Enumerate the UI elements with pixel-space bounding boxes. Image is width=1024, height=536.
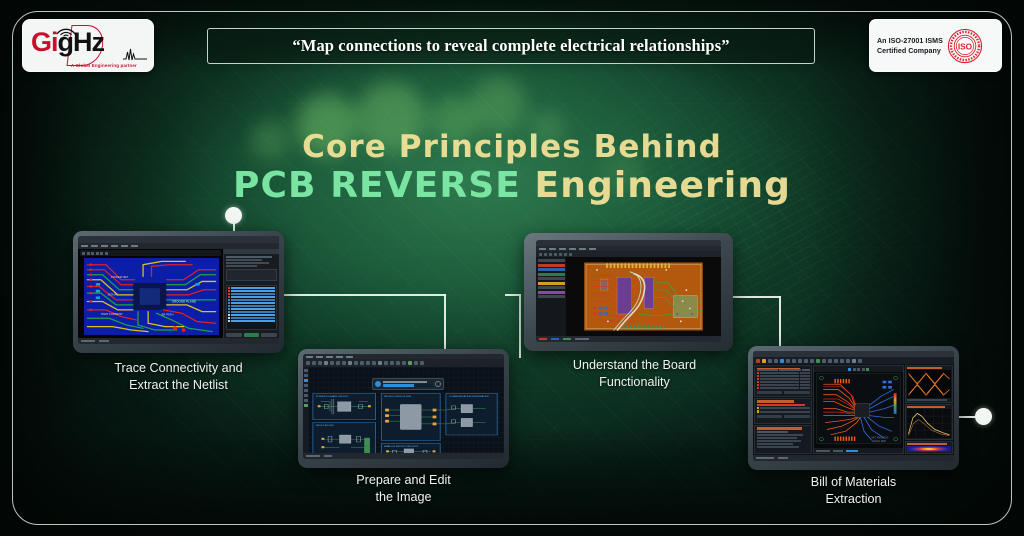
- title-line-1: Core Principles Behind: [0, 132, 1024, 164]
- app-window-schematic-capture-editor[interactable]: POWER DOMAIN CIRCUIT REGULATORS MICROCON…: [303, 354, 504, 459]
- eye-diagram-panel[interactable]: [905, 365, 953, 403]
- thermal-map-panel[interactable]: [905, 441, 953, 454]
- svg-text:POWER NET: POWER NET: [111, 275, 129, 279]
- page-title: Core Principles Behind PCB REVERSE Engin…: [0, 132, 1024, 204]
- iso-badge-line1: An ISO-27001 ISMS: [877, 36, 943, 46]
- app-statusbar: [78, 338, 279, 344]
- app-statusbar: [536, 336, 721, 342]
- pcb-traces: POWER NET SIGNAL HIGH CURRENT GROUND PLA…: [84, 258, 219, 335]
- screenshot-card-trace-connectivity[interactable]: POWER NET SIGNAL HIGH CURRENT GROUND PLA…: [73, 231, 284, 353]
- netlist-log: [224, 254, 279, 283]
- impedance-plot-panel[interactable]: [905, 404, 953, 439]
- app-window-pcb-board-viewer[interactable]: [536, 240, 721, 342]
- connector-seg-3h: [733, 296, 781, 298]
- iso-badge-text: An ISO-27001 ISMS Certified Company: [877, 36, 943, 56]
- bom-table-components[interactable]: [754, 365, 812, 397]
- bom-summary-panel[interactable]: [754, 425, 812, 454]
- bom-warnings-panel[interactable]: [754, 398, 812, 424]
- schematic-canvas[interactable]: POWER DOMAIN CIRCUIT REGULATORS MICROCON…: [303, 367, 504, 453]
- pcb-canvas[interactable]: POWER NET SIGNAL HIGH CURRENT GROUND PLA…: [78, 249, 223, 338]
- svg-text:MICROCONTROLLER: MICROCONTROLLER: [384, 396, 411, 398]
- svg-text:NET ANALYSIS: NET ANALYSIS: [871, 436, 888, 439]
- connector-seg-1v: [444, 294, 446, 350]
- infographic-canvas: GigHz A Global Engineering partner “Map …: [0, 0, 1024, 536]
- screenshot-card-board-functionality[interactable]: [524, 233, 733, 351]
- svg-text:REGULATORS: REGULATORS: [316, 424, 334, 427]
- app-window-pcb-layout-editor[interactable]: POWER NET SIGNAL HIGH CURRENT GROUND PLA…: [78, 236, 279, 344]
- progress-spinner-icon: [375, 381, 381, 387]
- logo-g: g: [58, 27, 74, 57]
- search-icon[interactable]: [435, 381, 441, 387]
- canvas-toolbar[interactable]: [80, 250, 221, 256]
- thermal-heatmap: [907, 446, 951, 452]
- svg-text:ISO: ISO: [958, 42, 973, 51]
- step-label-board-functionality: Understand the Board Functionality: [529, 357, 740, 390]
- pcb-board-render: [566, 257, 721, 336]
- step-label-trace-connectivity: Trace Connectivity and Extract the Netli…: [73, 360, 284, 393]
- svg-text:SIGNAL: SIGNAL: [108, 293, 119, 297]
- title-line-2: PCB REVERSE Engineering: [0, 168, 1024, 205]
- eye-diagram-plot: [907, 370, 951, 398]
- svg-text:GROUND PLANE: GROUND PLANE: [172, 299, 196, 303]
- impedance-plot: [907, 409, 951, 437]
- analysis-panels[interactable]: [905, 365, 953, 454]
- layer-top-copper[interactable]: [538, 264, 565, 267]
- company-logo: GigHz A Global Engineering partner: [22, 19, 154, 72]
- connector-node-top: [225, 207, 242, 224]
- connector-seg-2h: [505, 294, 521, 296]
- logo-wordmark: GigHz: [31, 27, 104, 57]
- screenshot-card-bom-extraction[interactable]: NET ANALYSIS SIGNAL MAP: [748, 346, 959, 470]
- pcb-analysis-render: NET ANALYSIS SIGNAL MAP: [814, 372, 903, 447]
- svg-text:COMMUNICATION INTERFACES: COMMUNICATION INTERFACES: [449, 395, 490, 398]
- connector-seg-2v: [519, 294, 521, 358]
- schematic-tool-rail[interactable]: [303, 367, 309, 453]
- connector-seg-1h: [283, 294, 446, 296]
- svg-text:RF PATH: RF PATH: [162, 313, 174, 317]
- app-toolbar[interactable]: [303, 359, 504, 367]
- logo-tagline: A Global Engineering partner: [71, 63, 137, 68]
- app-statusbar: [753, 455, 954, 461]
- app-body: [536, 257, 721, 336]
- step-label-bom-extraction: Bill of Materials Extraction: [748, 474, 959, 507]
- logo-gi: Gi: [31, 27, 58, 57]
- app-body: NET ANALYSIS SIGNAL MAP: [753, 364, 954, 455]
- bom-panels[interactable]: [754, 365, 812, 454]
- connector-seg-3v: [779, 296, 781, 348]
- schematic-blocks: POWER DOMAIN CIRCUIT REGULATORS MICROCON…: [311, 392, 501, 453]
- logo-hz: Hz: [73, 27, 104, 57]
- title-line-2-rest: Engineering: [521, 165, 791, 206]
- step-label-prepare-image: Prepare and Edit the Image: [298, 472, 509, 505]
- board-view-statusbar: [814, 448, 903, 453]
- svg-text:ANALOG FRONT CIRCUITS: ANALOG FRONT CIRCUITS: [384, 445, 419, 448]
- progress-dialog[interactable]: [372, 378, 444, 390]
- headline-quote-text: “Map connections to reveal complete elec…: [292, 36, 729, 56]
- svg-text:HIGH CURRENT: HIGH CURRENT: [101, 312, 123, 316]
- card-bezel: POWER NET SIGNAL HIGH CURRENT GROUND PLA…: [73, 231, 284, 353]
- connector-node-right: [975, 408, 992, 425]
- board-canvas[interactable]: [566, 257, 721, 336]
- app-titlebar: [78, 236, 279, 243]
- svg-text:POWER DOMAIN CIRCUIT: POWER DOMAIN CIRCUIT: [316, 395, 349, 398]
- app-window-bom-analysis-suite[interactable]: NET ANALYSIS SIGNAL MAP: [753, 351, 954, 461]
- card-bezel-tablet: [524, 233, 733, 351]
- iso-badge-line2: Certified Company: [877, 46, 943, 56]
- app-toolbar[interactable]: [753, 357, 954, 364]
- board-layout-view[interactable]: NET ANALYSIS SIGNAL MAP: [813, 365, 904, 454]
- layer-solder-mask[interactable]: [538, 282, 565, 285]
- screenshot-card-prepare-image[interactable]: POWER DOMAIN CIRCUIT REGULATORS MICROCON…: [298, 349, 509, 468]
- title-highlight: PCB REVERSE: [233, 165, 521, 206]
- netlist-table[interactable]: [226, 285, 277, 330]
- headline-quote-banner: “Map connections to reveal complete elec…: [207, 28, 815, 64]
- layer-panel[interactable]: [536, 257, 566, 336]
- waveform-icon: [123, 47, 147, 61]
- layer-drill[interactable]: [538, 291, 565, 294]
- card-bezel: POWER DOMAIN CIRCUIT REGULATORS MICROCON…: [298, 349, 509, 468]
- layer-silkscreen[interactable]: [538, 273, 565, 276]
- iso-certification-badge: An ISO-27001 ISMS Certified Company ISO: [869, 19, 1002, 72]
- card-bezel: NET ANALYSIS SIGNAL MAP: [748, 346, 959, 470]
- svg-text:SIGNAL MAP: SIGNAL MAP: [871, 440, 886, 443]
- app-statusbar: [303, 453, 504, 459]
- netlist-panel[interactable]: [223, 249, 279, 338]
- layer-bottom-copper[interactable]: [538, 268, 565, 271]
- iso-seal-icon: ISO: [947, 28, 983, 64]
- app-body: POWER NET SIGNAL HIGH CURRENT GROUND PLA…: [78, 249, 279, 338]
